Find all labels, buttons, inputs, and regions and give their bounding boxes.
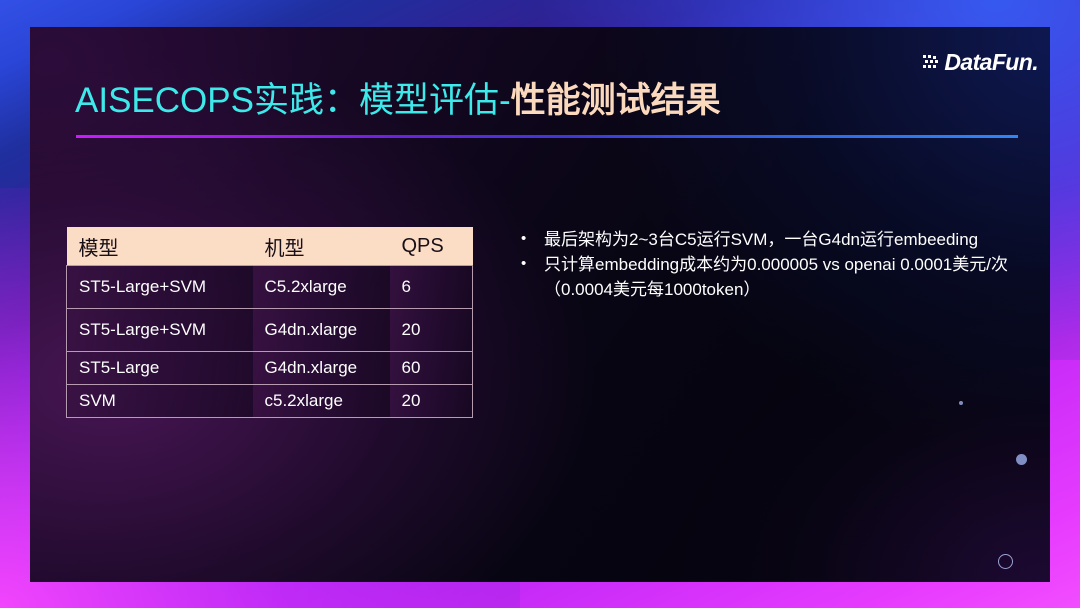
small-dot-icon — [959, 401, 963, 405]
logo-wordmark: DataFun. — [944, 51, 1038, 74]
cell-machine: G4dn.xlarge — [253, 352, 390, 385]
column-header-machine: 机型 — [253, 227, 390, 266]
cell-qps: 60 — [390, 352, 473, 385]
title-divider — [76, 135, 1018, 138]
slide-content-panel: DataFun. AISECOPS实践：模型评估-性能测试结果 模型 机型 QP… — [30, 27, 1050, 582]
cell-model: ST5-Large+SVM — [67, 309, 253, 352]
pixel-squares-icon — [923, 55, 940, 70]
cell-machine: C5.2xlarge — [253, 266, 390, 309]
cell-qps: 6 — [390, 266, 473, 309]
outlined-circle-icon — [998, 554, 1013, 569]
column-header-model: 模型 — [67, 227, 253, 266]
performance-table: 模型 机型 QPS ST5-Large+SVM C5.2xlarge 6 ST5… — [66, 227, 473, 418]
notes-bullet-list: 最后架构为2~3台C5运行SVM，一台G4dn运行embeeding 只计算em… — [515, 227, 1050, 302]
cell-machine: c5.2xlarge — [253, 385, 390, 418]
list-item: 最后架构为2~3台C5运行SVM，一台G4dn运行embeeding — [515, 227, 1050, 252]
table-header-row: 模型 机型 QPS — [67, 227, 473, 266]
cell-qps: 20 — [390, 385, 473, 418]
table-row: ST5-Large+SVM C5.2xlarge 6 — [67, 266, 473, 309]
page-title-emphasis: 性能测试结果 — [511, 81, 721, 120]
cell-model: ST5-Large+SVM — [67, 266, 253, 309]
page-title: AISECOPS实践：模型评估-性能测试结果 — [75, 79, 721, 123]
filled-circle-icon — [1016, 454, 1027, 465]
table-row: ST5-Large+SVM G4dn.xlarge 20 — [67, 309, 473, 352]
cell-model: SVM — [67, 385, 253, 418]
datafun-logo: DataFun. — [923, 49, 1038, 75]
table-row: ST5-Large G4dn.xlarge 60 — [67, 352, 473, 385]
cell-model: ST5-Large — [67, 352, 253, 385]
column-header-qps: QPS — [390, 227, 473, 266]
page-title-primary: AISECOPS实践：模型评估- — [75, 81, 511, 120]
cell-qps: 20 — [390, 309, 473, 352]
table-row: SVM c5.2xlarge 20 — [67, 385, 473, 418]
cell-machine: G4dn.xlarge — [253, 309, 390, 352]
list-item: 只计算embedding成本约为0.000005 vs openai 0.000… — [515, 252, 1050, 302]
slide-canvas: DataFun. AISECOPS实践：模型评估-性能测试结果 模型 机型 QP… — [0, 0, 1080, 608]
